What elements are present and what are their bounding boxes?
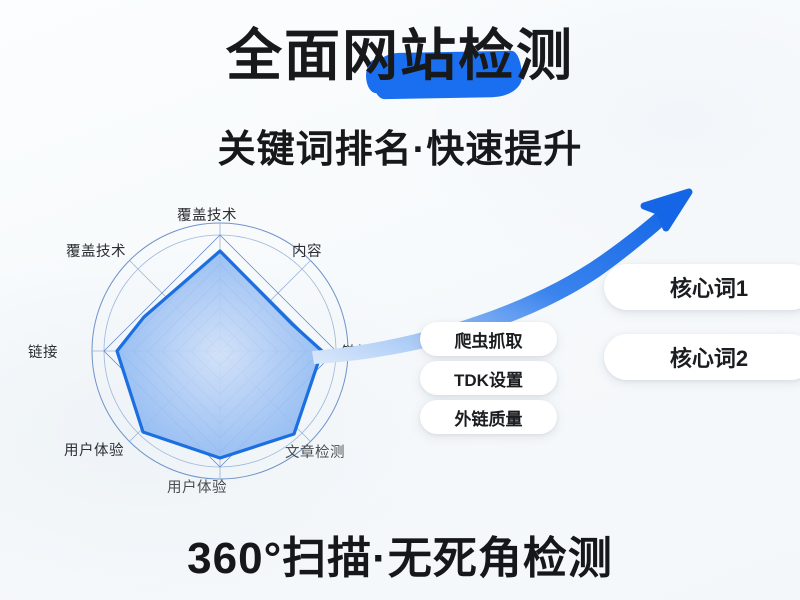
page-title: 全面网站检测	[226, 28, 574, 84]
keyword-pill-1[interactable]: 核心词1	[604, 264, 800, 310]
radar-label-top: 覆盖技术	[177, 204, 237, 225]
radar-label-lower-right: 文章检测	[285, 441, 345, 462]
headline-block: 全面网站检测	[0, 28, 800, 84]
tag-tdk[interactable]: TDK设置	[420, 361, 557, 395]
tag-crawl[interactable]: 爬虫抓取	[420, 322, 557, 356]
title-highlight-text: 网站	[342, 24, 458, 87]
tag-backlink-quality[interactable]: 外链质量	[420, 400, 557, 434]
radar-label-upper-left: 覆盖技术	[66, 240, 126, 261]
radar-data-area	[117, 251, 322, 458]
page-subtitle: 关键词排名·快速提升	[0, 118, 800, 173]
keyword-pill-1-label: 核心词1	[670, 271, 748, 303]
title-part-1: 全面	[226, 24, 342, 87]
keyword-pill-2-label: 核心词2	[670, 341, 748, 373]
radar-label-lower-left: 用户体验	[64, 439, 124, 460]
radar-label-right: 链接	[342, 341, 372, 362]
radar-chart: 覆盖技术 内容 链接 文章检测 用户体验 用户体验 链接 覆盖技术	[20, 196, 420, 506]
radar-label-left: 链接	[28, 341, 58, 362]
title-part-2: 检测	[458, 24, 574, 87]
radar-label-bottom: 用户体验	[167, 476, 227, 497]
growth-arrow-head	[644, 192, 689, 228]
keyword-pill-2[interactable]: 核心词2	[604, 334, 800, 380]
tag-backlink-quality-label: 外链质量	[455, 405, 523, 430]
footer-slogan: 360°扫描·无死角检测	[0, 522, 800, 586]
tag-tdk-label: TDK设置	[454, 366, 523, 391]
tag-crawl-label: 爬虫抓取	[455, 327, 523, 352]
radar-label-upper-right: 内容	[292, 240, 322, 261]
